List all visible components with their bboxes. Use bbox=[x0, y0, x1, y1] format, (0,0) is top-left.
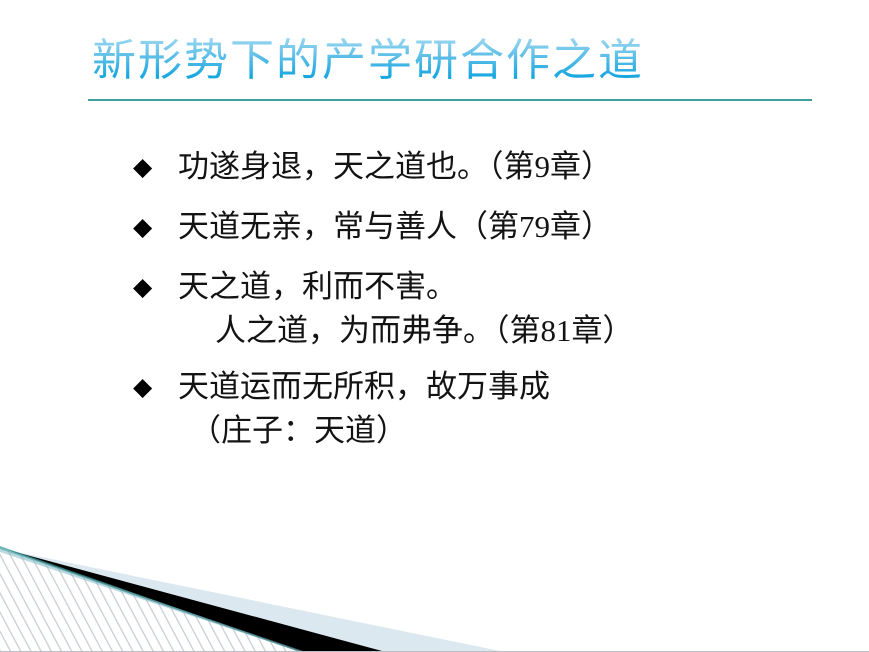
decoration-blue-band bbox=[12, 551, 500, 651]
bullet-item: ◆ 天之道，利而不害。 人之道，为而弗争。（第81章） bbox=[0, 250, 869, 350]
bullet-line-text: 天道无亲，常与善人（第79章） bbox=[178, 208, 612, 246]
bullet-line-text: 天之道，利而不害。 bbox=[178, 268, 457, 306]
slide-corner-decoration bbox=[0, 537, 869, 652]
diamond-bullet-icon: ◆ bbox=[133, 274, 157, 299]
title-underline-rule bbox=[88, 99, 812, 101]
bullet-line-text-continuation: 人之道，为而弗争。（第81章） bbox=[215, 312, 634, 350]
diamond-bullet-icon: ◆ bbox=[133, 154, 157, 179]
diamond-bullet-icon: ◆ bbox=[133, 214, 157, 239]
slide-title: 新形势下的产学研合作之道 bbox=[92, 34, 644, 88]
decoration-teal-edge bbox=[0, 546, 300, 651]
bullet-line-text-continuation: （庄子：天道） bbox=[190, 412, 407, 450]
bullet-item: ◆ 功遂身退，天之道也。（第9章） bbox=[0, 130, 869, 190]
bullet-line-text: 功遂身退，天之道也。（第9章） bbox=[178, 148, 612, 186]
bullet-item: ◆ 天道运而无所积，故万事成 （庄子：天道） bbox=[0, 350, 869, 450]
slide-title-block: 新形势下的产学研合作之道 bbox=[0, 0, 869, 110]
slide-body: ◆ 功遂身退，天之道也。（第9章） ◆ 天道无亲，常与善人（第79章） ◆ 天之… bbox=[0, 130, 869, 450]
diamond-bullet-icon: ◆ bbox=[133, 374, 157, 399]
decoration-black-wedge bbox=[8, 550, 382, 651]
bullet-item: ◆ 天道无亲，常与善人（第79章） bbox=[0, 190, 869, 250]
decoration-striped-triangle bbox=[0, 537, 869, 652]
decoration-teal-edge-lower bbox=[0, 548, 306, 652]
presentation-slide: 新形势下的产学研合作之道 ◆ 功遂身退，天之道也。（第9章） ◆ 天道无亲，常与… bbox=[0, 0, 869, 652]
bullet-line-text: 天道运而无所积，故万事成 bbox=[178, 368, 550, 406]
